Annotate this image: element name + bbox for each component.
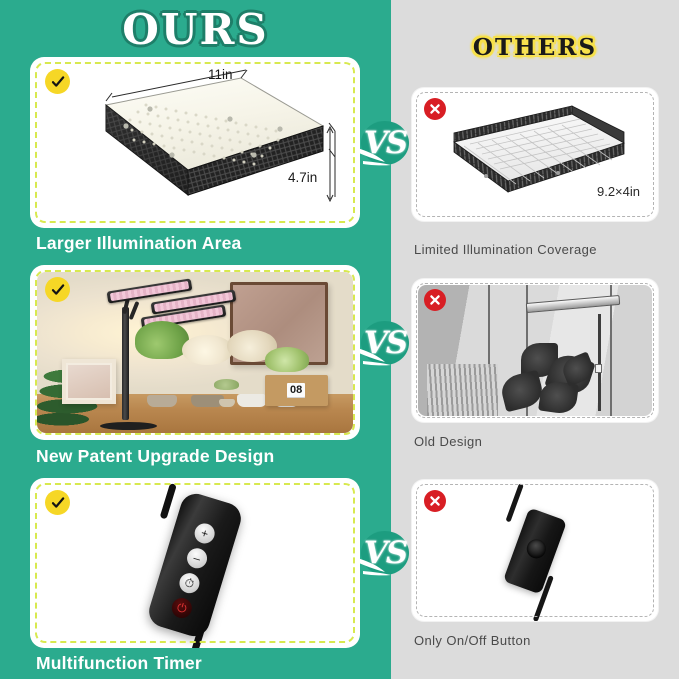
onoff-knob[interactable]	[524, 536, 548, 560]
power-button[interactable]: ⏻	[169, 596, 194, 621]
ours-caption-1: Larger Illumination Area	[36, 233, 241, 254]
cross-icon	[424, 98, 446, 120]
timer-button[interactable]: ⏱	[177, 571, 202, 596]
controller-illustration: + – ⏱ ⏻	[30, 478, 360, 648]
old-lamp-head	[525, 295, 619, 313]
check-glyph	[50, 282, 66, 298]
others-dimension-label: 9.2×4in	[597, 184, 640, 199]
plus-button[interactable]: +	[192, 521, 217, 546]
others-caption-3: Only On/Off Button	[414, 633, 531, 648]
ours-card-illumination-area: 11in 4.7in	[30, 57, 360, 228]
plant-succulent	[214, 390, 239, 408]
others-header-title: OTHERS	[391, 34, 679, 61]
pot-b	[237, 394, 267, 408]
ours-card-patent-design: 08	[30, 265, 360, 440]
cross-glyph	[428, 293, 442, 307]
vs-badge-2: VS	[355, 318, 415, 368]
pot-d	[219, 399, 235, 407]
dimension-width-label: 11in	[208, 67, 233, 82]
comparison-infographic: OURS OTHERS	[0, 0, 679, 679]
flip-clock: 08	[265, 375, 328, 406]
photo-frame	[62, 359, 116, 404]
others-card-onoff-switch	[412, 480, 658, 621]
lamp-base	[100, 422, 157, 430]
small-led-panel-svg	[412, 88, 658, 221]
check-icon	[45, 69, 70, 94]
dimension-height-label: 4.7in	[288, 170, 317, 185]
old-lamp-switch	[595, 364, 602, 373]
cross-icon	[424, 289, 446, 311]
cross-glyph	[428, 102, 442, 116]
switch-body	[503, 507, 567, 594]
led-panel-svg	[30, 57, 360, 228]
ours-header-title: OURS	[0, 5, 391, 54]
ours-caption-2: New Patent Upgrade Design	[36, 446, 274, 467]
others-caption-1: Limited Illumination Coverage	[414, 242, 597, 257]
check-icon	[45, 277, 70, 302]
succulent-foliage	[214, 379, 239, 390]
vs-badge-3: VS	[355, 528, 415, 578]
old-lamp-pole	[598, 314, 601, 411]
vs-label: VS	[355, 118, 415, 168]
others-caption-2: Old Design	[414, 434, 482, 449]
desk-grow-lamp-photo: 08	[37, 272, 353, 433]
vs-label: VS	[355, 318, 415, 368]
small-led-panel-illustration	[412, 88, 658, 221]
vs-badge-1: VS	[355, 118, 415, 168]
led-panel-illustration: 11in 4.7in	[30, 57, 360, 228]
check-glyph	[50, 495, 66, 511]
vine-pot	[147, 395, 177, 408]
rocker-switch-illustration	[412, 480, 658, 621]
others-card-old-design	[412, 279, 658, 422]
old-design-photo	[418, 285, 652, 416]
lamp-pole	[122, 307, 129, 420]
small-foliage	[265, 347, 309, 372]
vine-foliage	[135, 321, 189, 359]
clock-digit: 08	[287, 383, 305, 398]
ours-caption-3: Multifunction Timer	[36, 653, 202, 674]
cross-glyph	[428, 494, 442, 508]
cross-icon	[424, 490, 446, 512]
controller-cord-top	[160, 483, 177, 519]
vs-label: VS	[355, 528, 415, 578]
others-card-illumination-coverage: 9.2×4in	[412, 88, 658, 221]
grass-plant	[427, 364, 497, 416]
plant-vine	[135, 359, 189, 407]
check-glyph	[50, 74, 66, 90]
ours-card-multifunction-timer: + – ⏱ ⏻	[30, 478, 360, 648]
minus-button[interactable]: –	[185, 546, 210, 571]
switch-cord-top	[505, 483, 523, 522]
check-icon	[45, 490, 70, 515]
